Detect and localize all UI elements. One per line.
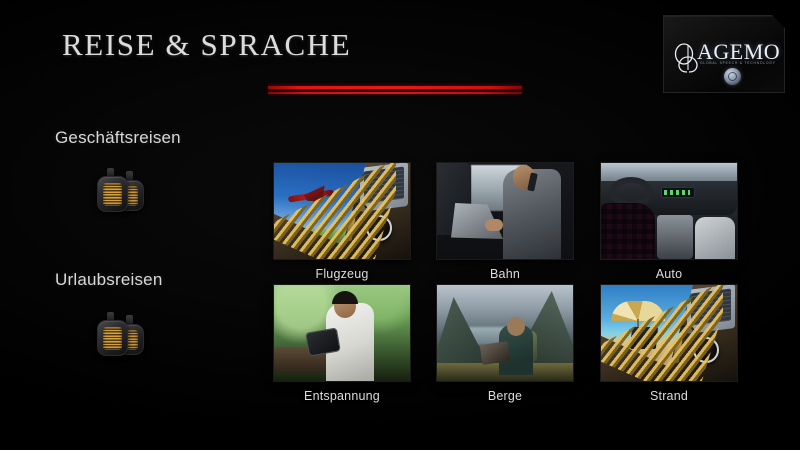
tile-label: Entspannung [274, 381, 410, 403]
tile-berge[interactable]: Berge [437, 285, 573, 381]
tile-strand[interactable]: Strand [601, 285, 737, 381]
tile-entspannung[interactable]: Entspannung [274, 285, 410, 381]
brand-logo-inner: AGEMO GLOBAL SPEECH & TECHNOLOGY [664, 16, 784, 92]
tile-label: Strand [601, 381, 737, 403]
category-urlaubsreisen[interactable]: Urlaubsreisen [55, 270, 162, 290]
brand-tagline: GLOBAL SPEECH & TECHNOLOGY [700, 61, 776, 65]
tile-label: Berge [437, 381, 573, 403]
divider-rule-thin [268, 92, 522, 94]
tile-photo [601, 285, 737, 381]
tile-photo [437, 285, 573, 381]
category-label: Geschäftsreisen [55, 128, 181, 148]
circular-seal-icon [724, 68, 741, 85]
tile-bahn[interactable]: Bahn [437, 163, 573, 259]
tile-photo [601, 163, 737, 259]
tile-label: Bahn [437, 259, 573, 281]
tile-flugzeug[interactable]: Flugzeug [274, 163, 410, 259]
translator-device-icon [93, 312, 155, 362]
page-title: REISE & SPRACHE [62, 27, 351, 63]
tile-auto[interactable]: Auto [601, 163, 737, 259]
tile-label: Auto [601, 259, 737, 281]
translator-device-icon [93, 168, 155, 218]
tile-label: Flugzeug [274, 259, 410, 281]
title-divider [268, 86, 522, 94]
category-geschaeftsreisen[interactable]: Geschäftsreisen [55, 128, 181, 148]
category-label: Urlaubsreisen [55, 270, 162, 290]
slide-canvas: REISE & SPRACHE AGEMO GLOBAL SPEECH & TE… [0, 0, 800, 450]
brand-logo-plate: AGEMO GLOBAL SPEECH & TECHNOLOGY [663, 15, 785, 93]
tile-photo [274, 285, 410, 381]
tile-photo [274, 163, 410, 259]
tile-photo [437, 163, 573, 259]
